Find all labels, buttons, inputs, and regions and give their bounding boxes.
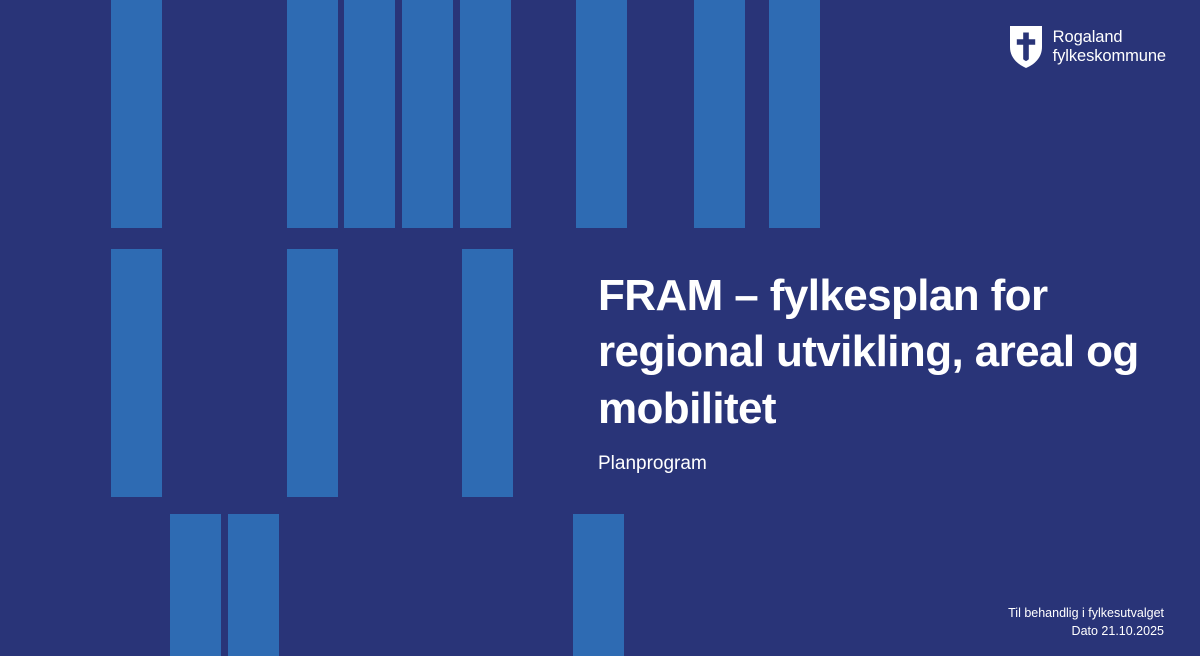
- decorative-bar: [462, 249, 513, 497]
- decorative-bar: [460, 0, 511, 228]
- logo-line-1: Rogaland: [1053, 28, 1166, 47]
- rogaland-shield-cross-icon: [1010, 26, 1042, 68]
- decorative-bar: [402, 0, 453, 228]
- decorative-bar: [576, 0, 627, 228]
- logo-wordmark: Rogaland fylkeskommune: [1053, 28, 1166, 66]
- footer-line-2: Dato 21.10.2025: [1008, 622, 1164, 640]
- decorative-bar: [573, 514, 624, 656]
- title-slide: Rogaland fylkeskommune FRAM – fylkesplan…: [0, 0, 1200, 656]
- decorative-bar: [287, 0, 338, 228]
- page-title: FRAM – fylkesplan for regional utvikling…: [598, 268, 1158, 437]
- decorative-bar: [344, 0, 395, 228]
- footer-line-1: Til behandlig i fylkesutvalget: [1008, 604, 1164, 622]
- decorative-bar: [111, 0, 162, 228]
- organisation-logo: Rogaland fylkeskommune: [1010, 26, 1166, 68]
- decorative-bar: [287, 249, 338, 497]
- title-block: FRAM – fylkesplan for regional utvikling…: [598, 268, 1158, 477]
- decorative-bar: [228, 514, 279, 656]
- decorative-bar: [694, 0, 745, 228]
- decorative-bar: [111, 249, 162, 497]
- logo-line-2: fylkeskommune: [1053, 47, 1166, 66]
- decorative-bar: [769, 0, 820, 228]
- page-subtitle: Planprogram: [598, 452, 1158, 477]
- footer-note: Til behandlig i fylkesutvalget Dato 21.1…: [1008, 604, 1164, 640]
- decorative-bar: [170, 514, 221, 656]
